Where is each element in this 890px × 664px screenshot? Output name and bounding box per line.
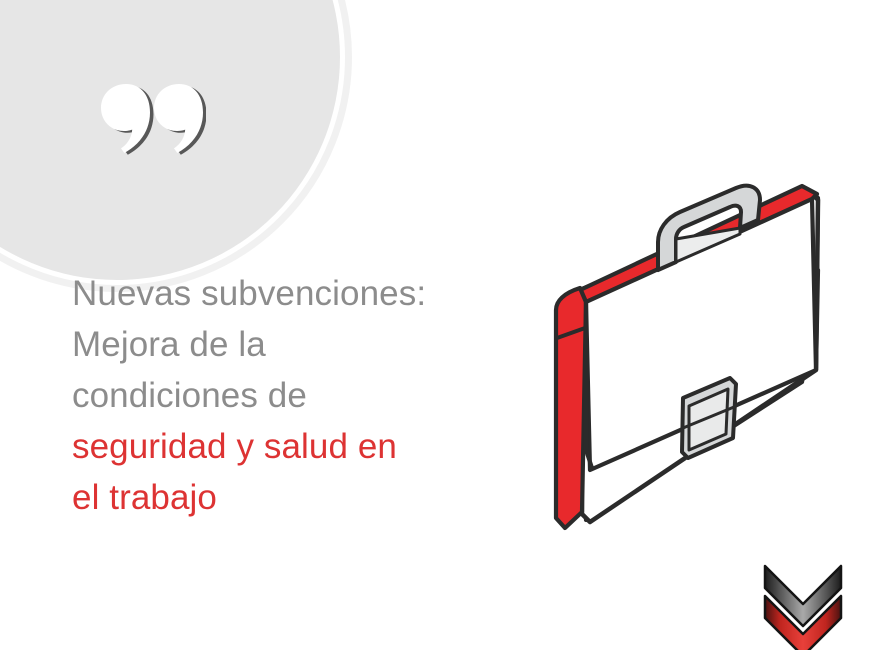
headline-line-1: Nuevas subvenciones:	[72, 268, 532, 319]
headline-line-3: condiciones de	[72, 370, 532, 421]
slide-canvas: Nuevas subvenciones: Mejora de la condic…	[0, 0, 890, 664]
briefcase-left-gusset	[556, 288, 586, 528]
headline: Nuevas subvenciones: Mejora de la condic…	[72, 268, 532, 523]
double-chevron-logo	[757, 558, 849, 650]
quotation-mark-icon	[100, 83, 206, 155]
headline-line-2: Mejora de la	[72, 319, 532, 370]
headline-line-5: el trabajo	[72, 472, 532, 523]
headline-line-4: seguridad y salud en	[72, 421, 532, 472]
briefcase-illustration	[540, 150, 885, 550]
